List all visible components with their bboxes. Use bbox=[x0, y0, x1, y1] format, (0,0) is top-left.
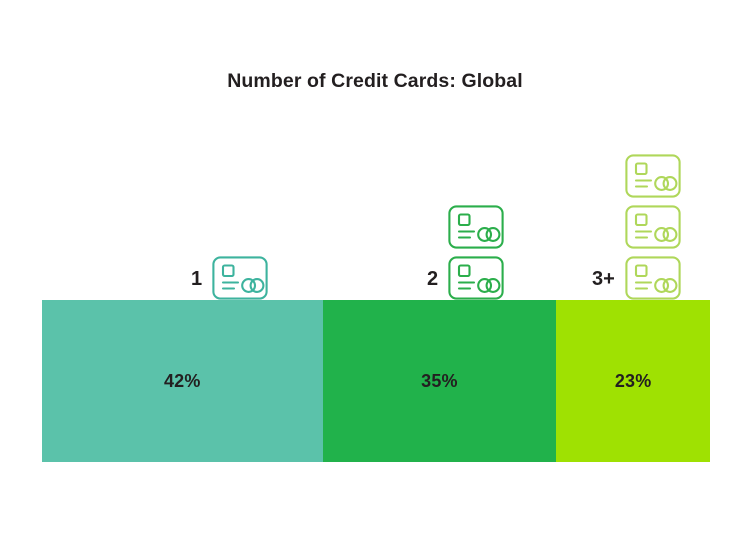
icon-group-2: 2 bbox=[427, 205, 504, 300]
stacked-bar: 42% 35% 23% bbox=[42, 300, 710, 462]
icon-group-3-plus: 3+ bbox=[592, 154, 681, 300]
card-stack-2 bbox=[448, 205, 504, 300]
credit-card-icon bbox=[448, 205, 504, 249]
bar-segment-value-3-plus: 23% bbox=[615, 371, 652, 392]
bar-segment-2[interactable]: 35% bbox=[323, 300, 557, 462]
icon-group-label-2: 2 bbox=[427, 269, 438, 300]
bar-segment-3-plus[interactable]: 23% bbox=[556, 300, 710, 462]
bar-segment-1[interactable]: 42% bbox=[42, 300, 323, 462]
icon-group-label-1: 1 bbox=[191, 269, 202, 300]
icon-group-label-3-plus: 3+ bbox=[592, 269, 615, 300]
icon-group-1: 1 bbox=[191, 256, 268, 300]
chart-title: Number of Credit Cards: Global bbox=[0, 70, 750, 93]
card-stack-1 bbox=[212, 256, 268, 300]
bar-segment-value-2: 35% bbox=[421, 371, 458, 392]
credit-card-icon bbox=[625, 154, 681, 198]
credit-card-icon bbox=[625, 205, 681, 249]
credit-card-icon bbox=[212, 256, 268, 300]
credit-card-icon bbox=[625, 256, 681, 300]
card-stack-3-plus bbox=[625, 154, 681, 300]
credit-card-icon bbox=[448, 256, 504, 300]
icon-legend-groups: 1 2 bbox=[42, 140, 710, 300]
chart-container: Number of Credit Cards: Global 1 2 bbox=[0, 0, 750, 537]
bar-segment-value-1: 42% bbox=[164, 371, 201, 392]
